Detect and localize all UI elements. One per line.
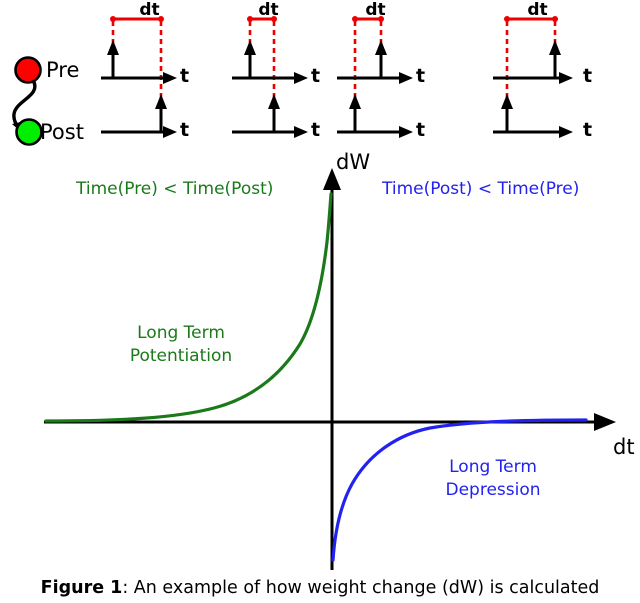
pre-axis-arrowhead bbox=[399, 72, 413, 84]
post-axis-t-label-panel-3: t bbox=[416, 119, 425, 141]
x-axis-label-dt: dt bbox=[613, 435, 635, 459]
dt-label-panel-1: dt bbox=[97, 0, 202, 20]
ltd-region-label-line2: Depression bbox=[430, 479, 556, 502]
pre-neuron-label: Pre bbox=[46, 58, 79, 82]
post-neuron-label: Post bbox=[40, 120, 84, 144]
dt-label-panel-3: dt bbox=[323, 0, 428, 20]
ltd-region-label-line1: Long Term bbox=[430, 456, 556, 479]
condition-label-right: Time(Post) < Time(Pre) bbox=[382, 179, 579, 199]
ltp-region-label: Long Term Potentiation bbox=[118, 322, 244, 368]
pre-axis-t-label-panel-3: t bbox=[416, 65, 425, 87]
stdp-plot-svg bbox=[0, 160, 640, 575]
stdp-figure: Pre Post dt t t bbox=[0, 0, 640, 603]
pre-axis-arrowhead bbox=[294, 72, 308, 84]
stdp-curve-plot bbox=[0, 160, 640, 575]
condition-label-left: Time(Pre) < Time(Post) bbox=[76, 179, 273, 199]
pre-axis-t-label-panel-2: t bbox=[311, 65, 320, 87]
y-axis-label-dw: dW bbox=[336, 150, 370, 174]
pre-axis-t-label-panel-4: t bbox=[583, 65, 592, 87]
pre-neuron-circle bbox=[16, 58, 41, 83]
dt-label-panel-2: dt bbox=[216, 0, 321, 20]
ltp-region-label-line1: Long Term bbox=[118, 322, 244, 345]
pre-spike-arrowhead bbox=[549, 40, 561, 55]
post-spike-arrowhead bbox=[155, 94, 167, 109]
post-axis-arrowhead bbox=[163, 126, 177, 138]
x-axis-arrowhead bbox=[594, 413, 616, 431]
post-axis-arrowhead bbox=[294, 126, 308, 138]
post-neuron-circle bbox=[17, 120, 42, 145]
pre-spike-arrowhead bbox=[244, 40, 256, 55]
pre-axis-arrowhead bbox=[163, 72, 177, 84]
dt-label-panel-4: dt bbox=[485, 0, 590, 20]
figure-caption: Figure 1: An example of how weight chang… bbox=[0, 578, 640, 598]
figure-caption-label: Figure 1 bbox=[41, 578, 123, 598]
post-axis-arrowhead bbox=[399, 126, 413, 138]
post-spike-arrowhead bbox=[349, 94, 361, 109]
pre-spike-arrowhead bbox=[375, 40, 387, 55]
post-axis-t-label-panel-4: t bbox=[583, 119, 592, 141]
pre-axis-t-label-panel-1: t bbox=[180, 65, 189, 87]
pre-spike-arrowhead bbox=[107, 40, 119, 55]
post-axis-t-label-panel-1: t bbox=[180, 119, 189, 141]
ltd-region-label: Long Term Depression bbox=[430, 456, 556, 502]
post-spike-arrowhead bbox=[501, 94, 513, 109]
post-axis-arrowhead bbox=[559, 126, 573, 138]
post-spike-arrowhead bbox=[268, 94, 280, 109]
ltp-curve bbox=[46, 194, 331, 421]
ltp-region-label-line2: Potentiation bbox=[118, 345, 244, 368]
figure-caption-text: : An example of how weight change (dW) i… bbox=[122, 578, 599, 598]
pre-axis-arrowhead bbox=[559, 72, 573, 84]
post-axis-t-label-panel-2: t bbox=[311, 119, 320, 141]
